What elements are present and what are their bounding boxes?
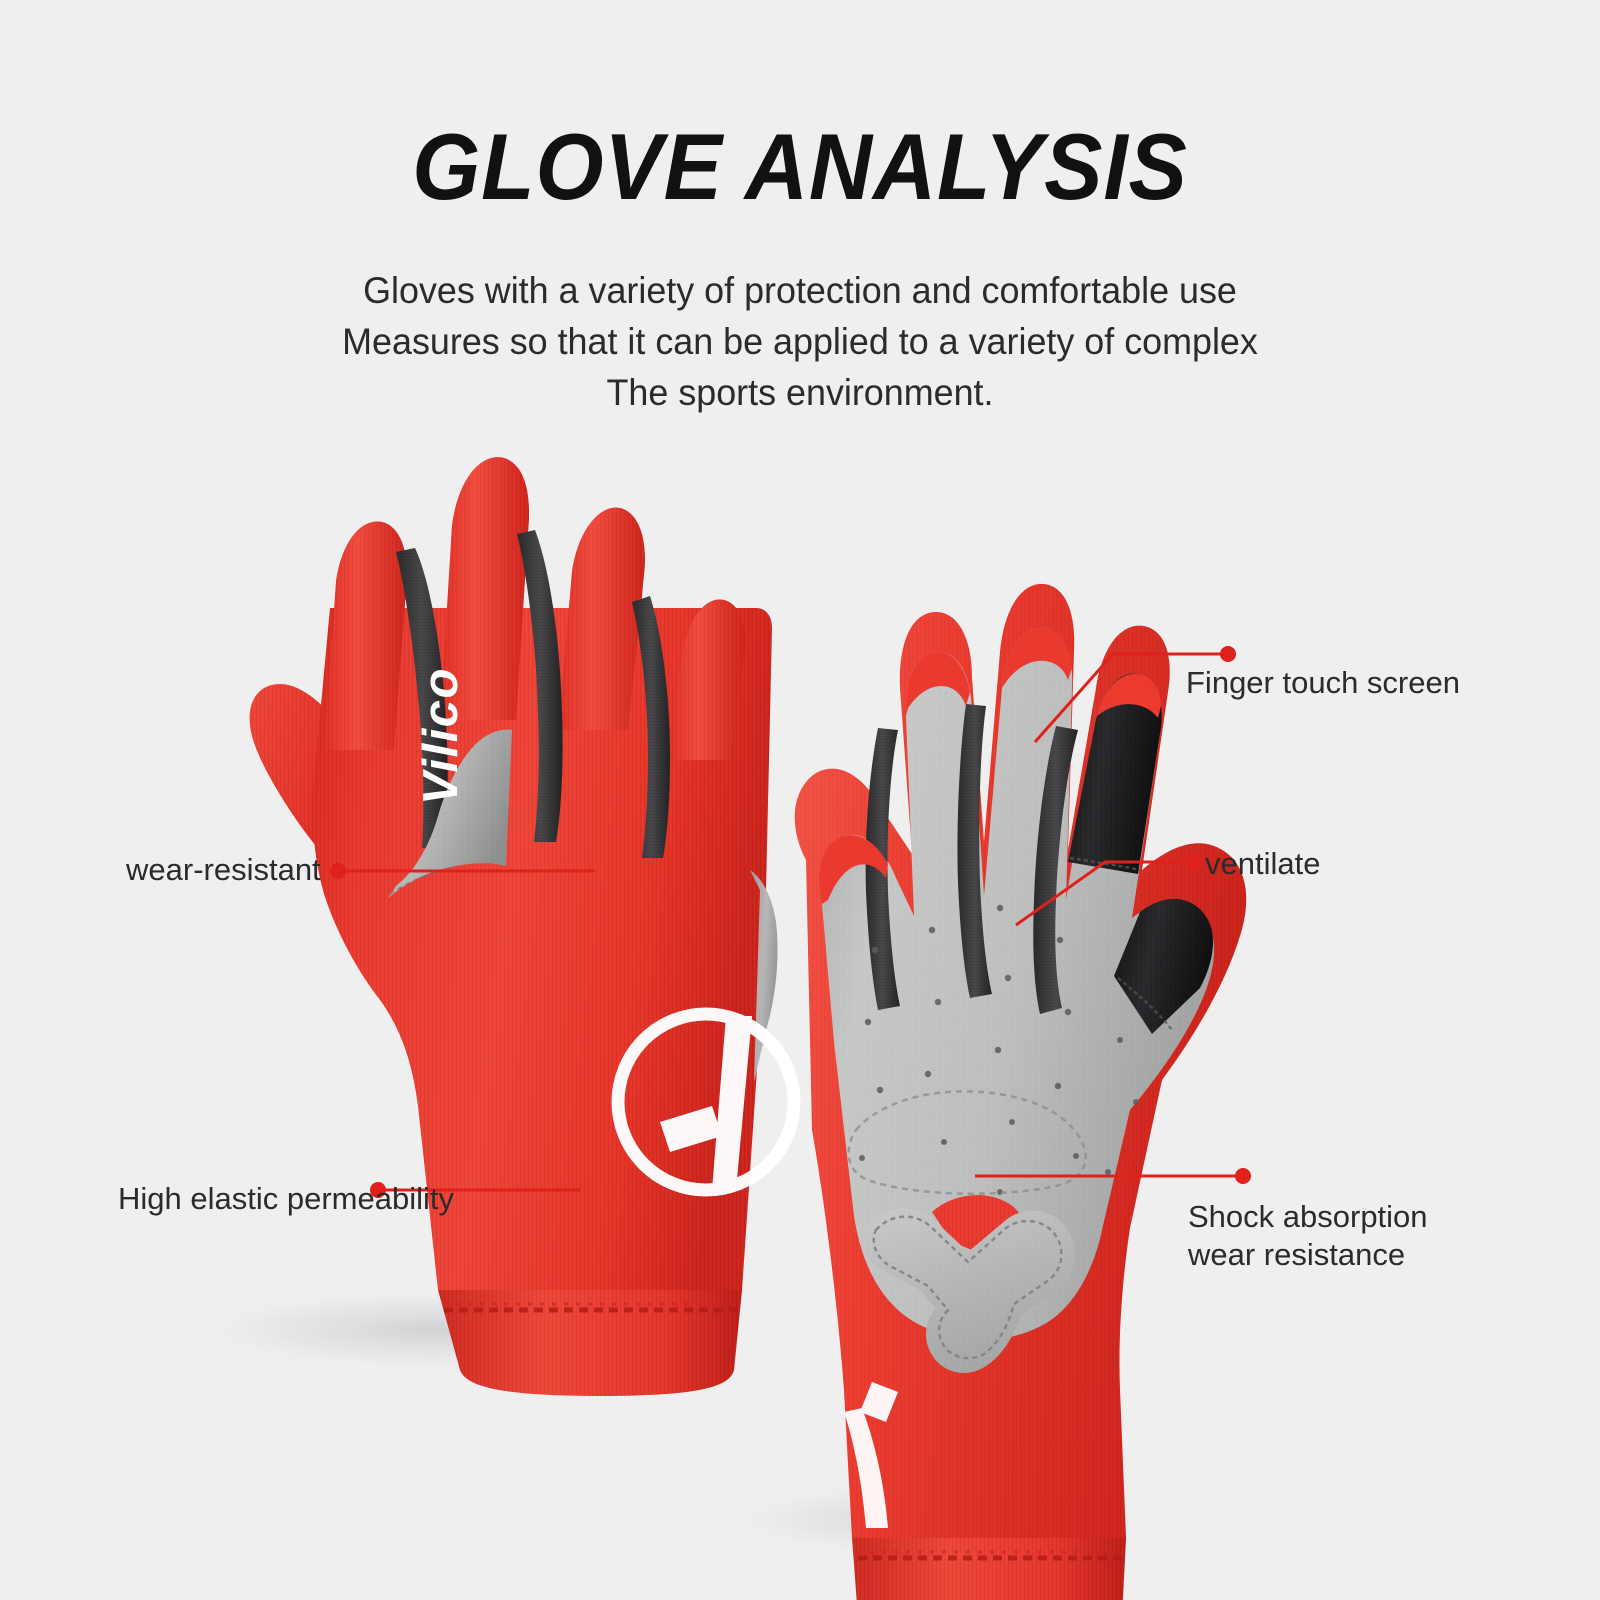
subtitle-block: Gloves with a variety of protection and … [24,265,1576,418]
callout-label-shock-absorption: Shock absorption wear resistance [1188,1198,1428,1274]
header-block: GLOVE ANALYSIS Gloves with a variety of … [0,0,1600,418]
subtitle-line-2: Measures so that it can be applied to a … [24,316,1576,367]
page-title: GLOVE ANALYSIS [56,118,1544,217]
product-image: Vilico [0,430,1600,1600]
callout-label-shock-absorption-line1: Shock absorption [1188,1198,1428,1236]
callout-label-high-elastic-permeability: High elastic permeability [118,1180,454,1217]
right-glove-palm [795,584,1246,1600]
subtitle-line-1: Gloves with a variety of protection and … [24,265,1576,316]
left-glove-back: Vilico [250,457,794,1396]
callout-label-wear-resistant: wear-resistant [126,851,321,888]
callout-label-finger-touch-screen: Finger touch screen [1186,664,1460,701]
callout-label-ventilate: ventilate [1205,845,1320,882]
callout-label-shock-absorption-line2: wear resistance [1188,1236,1428,1274]
brand-wordmark-left: Vilico [414,667,468,805]
subtitle-line-3: The sports environment. [24,367,1576,418]
